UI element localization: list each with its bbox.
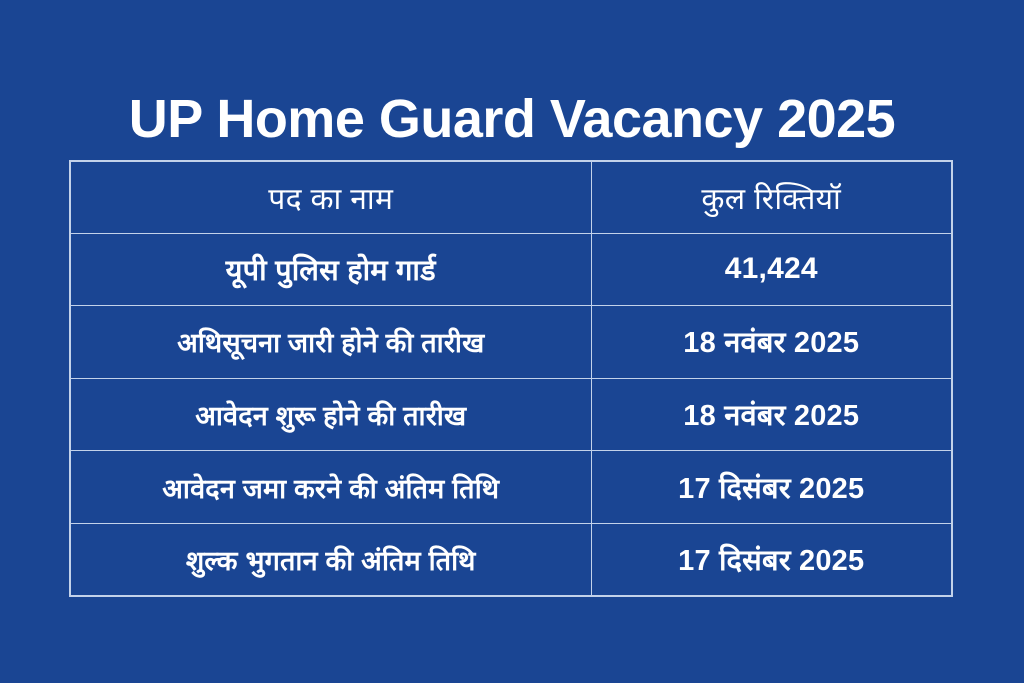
vacancy-table-container: पद का नाम कुल रिक्तियॉ यूपी पुलिस होम गा… (69, 160, 951, 597)
page-title: UP Home Guard Vacancy 2025 (0, 92, 1024, 146)
table-header: पद का नाम कुल रिक्तियॉ (70, 161, 952, 233)
row-value: 17 दिसंबर 2025 (591, 523, 952, 596)
column-header-total-vacancies: कुल रिक्तियॉ (591, 161, 952, 233)
table-row: यूपी पुलिस होम गार्ड 41,424 (70, 233, 952, 306)
table-row: आवेदन जमा करने की अंतिम तिथि 17 दिसंबर 2… (70, 451, 952, 524)
row-label: यूपी पुलिस होम गार्ड (70, 233, 591, 306)
table-row: शुल्क भुगतान की अंतिम तिथि 17 दिसंबर 202… (70, 523, 952, 596)
table-header-row: पद का नाम कुल रिक्तियॉ (70, 161, 952, 233)
vacancy-details-table: पद का नाम कुल रिक्तियॉ यूपी पुलिस होम गा… (69, 160, 953, 597)
table-row: अथिसूचना जारी होने की तारीख 18 नवंबर 202… (70, 306, 952, 379)
row-label: अथिसूचना जारी होने की तारीख (70, 306, 591, 379)
row-value: 17 दिसंबर 2025 (591, 451, 952, 524)
row-label: आवेदन शुरू होने की तारीख (70, 378, 591, 451)
row-value: 41,424 (591, 233, 952, 306)
table-body: यूपी पुलिस होम गार्ड 41,424 अथिसूचना जार… (70, 233, 952, 596)
row-value: 18 नवंबर 2025 (591, 378, 952, 451)
row-label: शुल्क भुगतान की अंतिम तिथि (70, 523, 591, 596)
poster-root: UP Home Guard Vacancy 2025 पद का नाम कुल… (0, 0, 1024, 683)
table-row: आवेदन शुरू होने की तारीख 18 नवंबर 2025 (70, 378, 952, 451)
row-label: आवेदन जमा करने की अंतिम तिथि (70, 451, 591, 524)
row-value: 18 नवंबर 2025 (591, 306, 952, 379)
column-header-post-name: पद का नाम (70, 161, 591, 233)
